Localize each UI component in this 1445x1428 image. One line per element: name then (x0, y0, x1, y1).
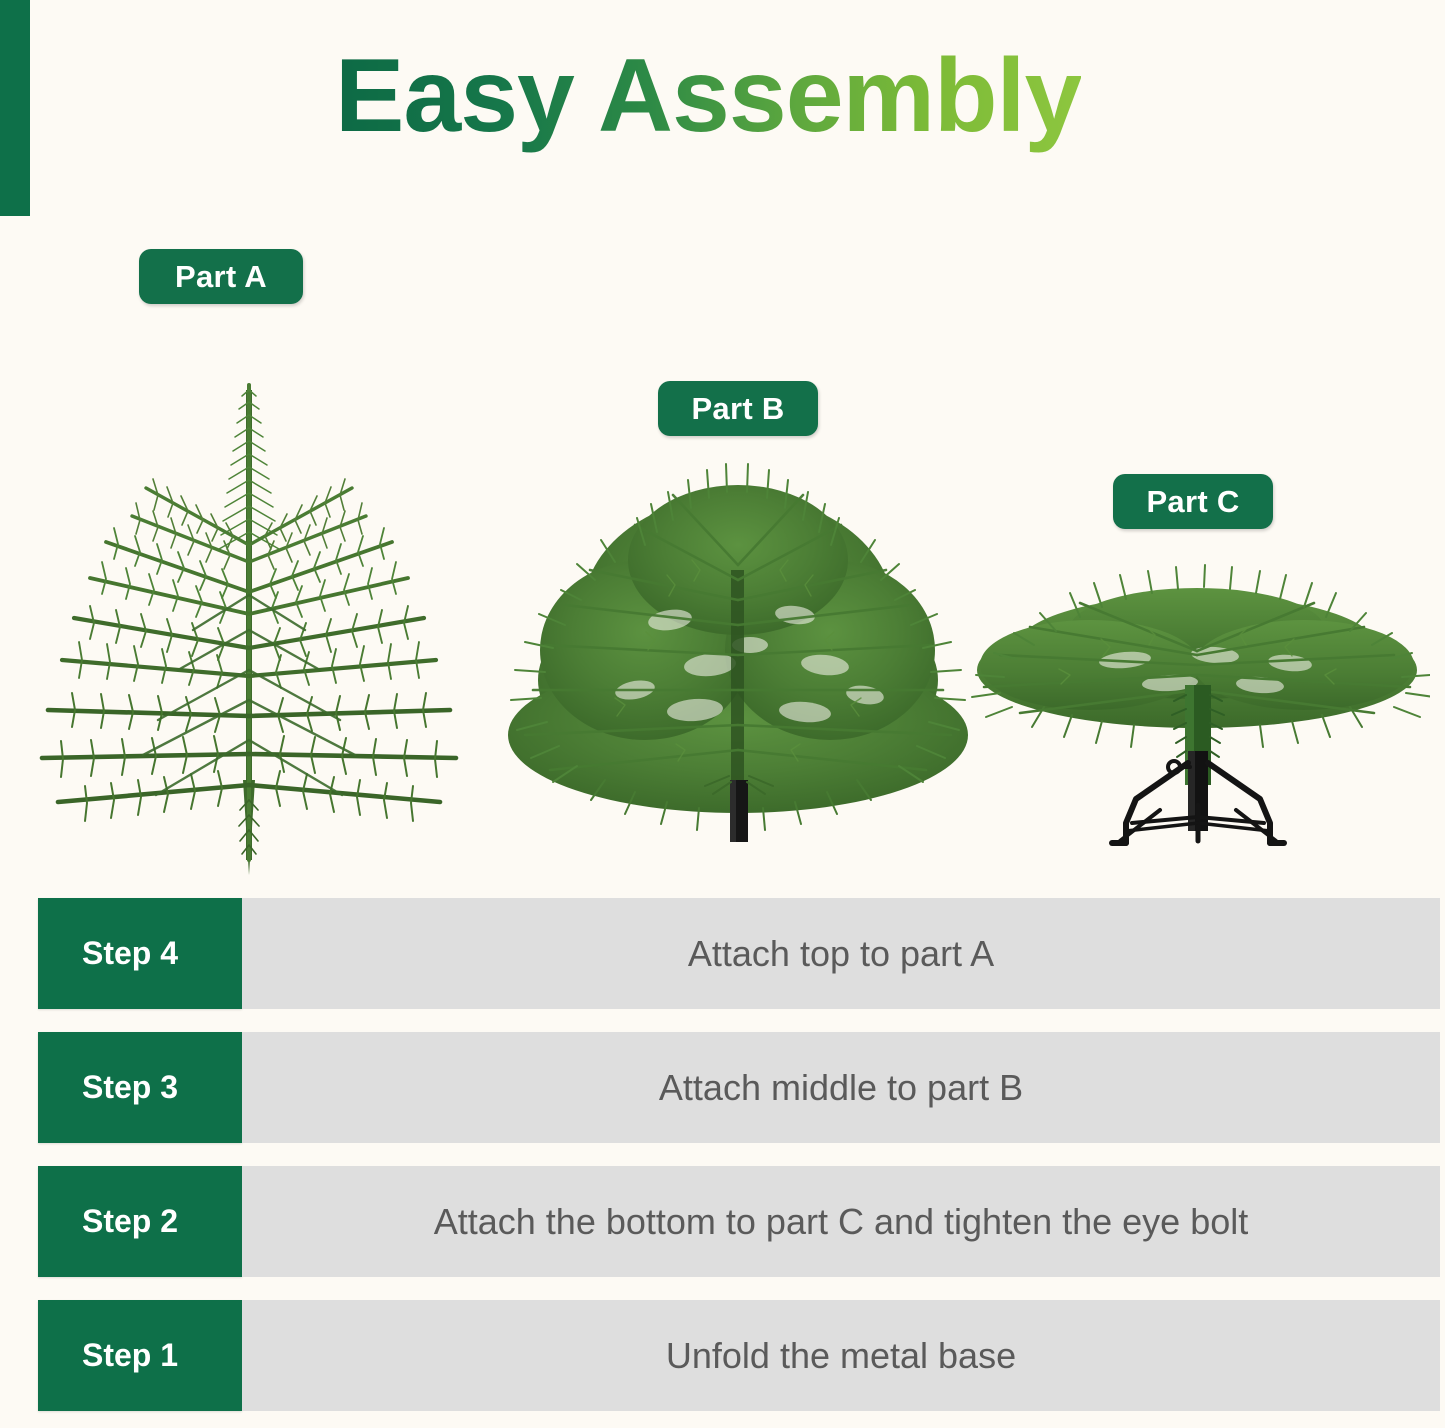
step-3-badge: Step 3 (38, 1032, 242, 1143)
part-a-tree-top-figure (28, 330, 473, 885)
step-2-badge: Step 2 (38, 1166, 242, 1277)
part-c-label: Part C (1146, 484, 1239, 520)
part-c-badge: Part C (1113, 474, 1273, 529)
step-row: Step 4 Attach top to part A (0, 898, 1445, 1009)
assembly-instruction-page: Easy Assembly Part A (0, 0, 1445, 1428)
step-row: Step 3 Attach middle to part B (0, 1032, 1445, 1143)
step-2-description: Attach the bottom to part C and tighten … (242, 1166, 1440, 1277)
step-3-description: Attach middle to part B (242, 1032, 1440, 1143)
step-4-badge: Step 4 (38, 898, 242, 1009)
step-1-badge: Step 1 (38, 1300, 242, 1411)
step-1-description: Unfold the metal base (242, 1300, 1440, 1411)
part-b-badge: Part B (658, 381, 818, 436)
part-b-label: Part B (691, 391, 784, 427)
step-row: Step 1 Unfold the metal base (0, 1300, 1445, 1411)
left-accent-bar (0, 0, 30, 216)
page-title: Easy Assembly (335, 38, 1081, 154)
metal-stand-graphic (1112, 751, 1284, 843)
part-b-tree-middle-figure (495, 450, 980, 885)
step-4-description: Attach top to part A (242, 898, 1440, 1009)
assembly-steps-list: Step 4 Attach top to part A Step 3 Attac… (0, 898, 1445, 1428)
part-a-badge: Part A (139, 249, 303, 304)
part-a-label: Part A (175, 259, 267, 295)
step-row: Step 2 Attach the bottom to part C and t… (0, 1166, 1445, 1277)
part-c-tree-bottom-with-stand-figure (960, 555, 1430, 885)
